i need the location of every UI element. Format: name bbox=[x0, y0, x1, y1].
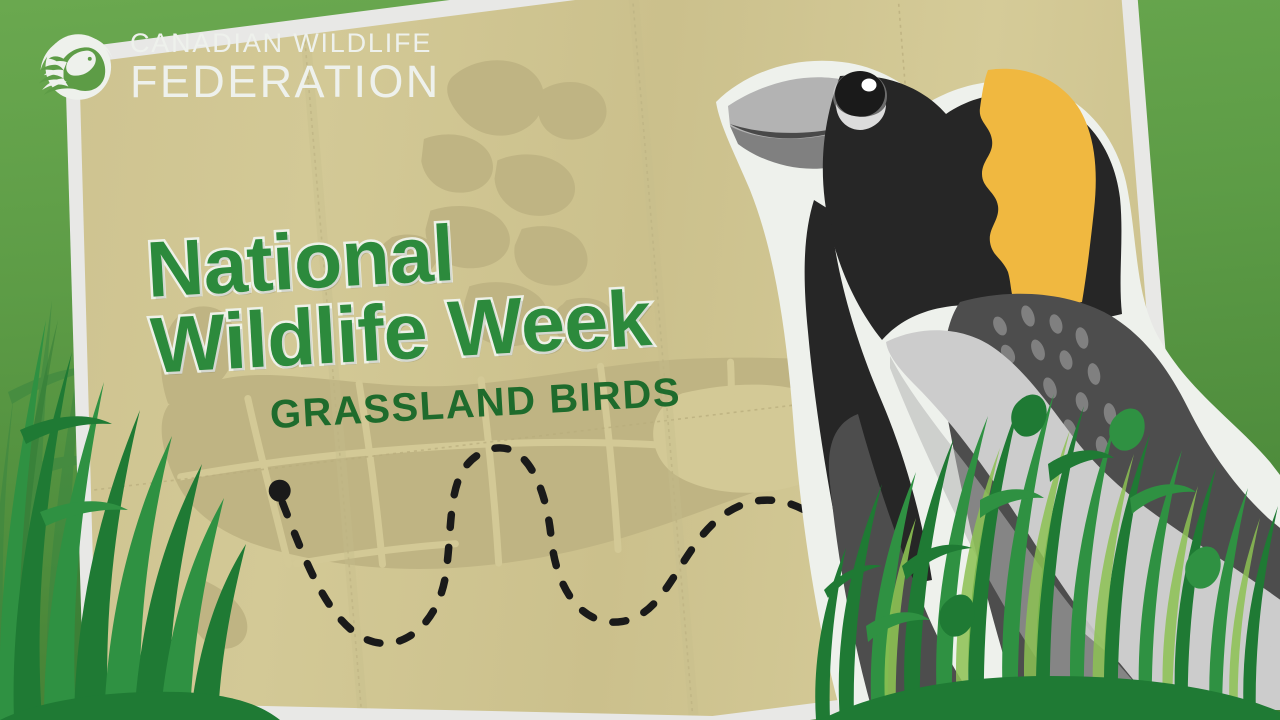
logo-line-1: CANADIAN WILDLIFE bbox=[130, 30, 441, 57]
bobolink-illustration bbox=[690, 10, 1280, 710]
cwf-goose-in-circle-logo bbox=[34, 26, 116, 108]
cwf-logo[interactable]: CANADIAN WILDLIFE FEDERATION bbox=[34, 26, 441, 108]
logo-line-2: FEDERATION bbox=[130, 59, 441, 104]
poster-canvas: National Wildlife Week GRASSLAND BIRDS bbox=[0, 0, 1280, 720]
